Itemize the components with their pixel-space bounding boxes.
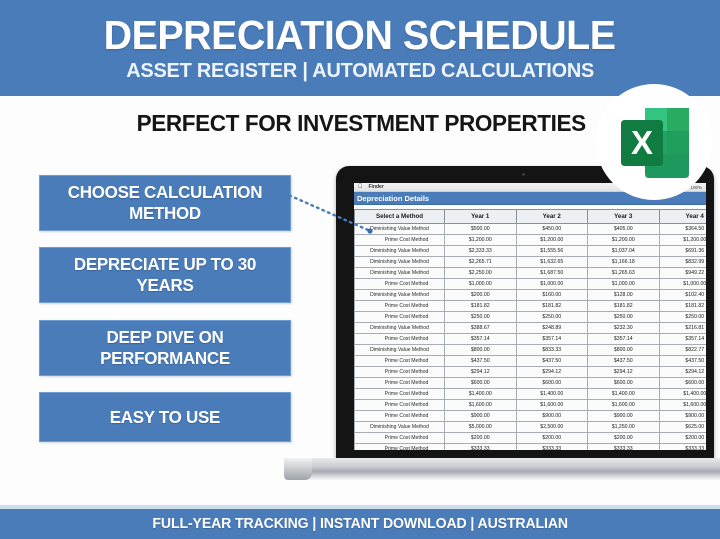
- table-body: Diminishing Value Method$500.00$450.00$4…: [355, 224, 707, 451]
- cell-method[interactable]: Diminishing Value Method: [355, 345, 445, 356]
- cell-year-3[interactable]: $1,265.63: [588, 268, 660, 279]
- cell-year-3[interactable]: $900.00: [588, 411, 660, 422]
- table-row[interactable]: Prime Cost Method$900.00$900.00$900.00$9…: [355, 411, 707, 422]
- cell-year-1[interactable]: $200.00: [445, 290, 517, 301]
- table-row[interactable]: Diminishing Value Method$2,333.33$1,555.…: [355, 246, 707, 257]
- cell-year-3[interactable]: $1,200.00: [588, 235, 660, 246]
- cell-year-3[interactable]: $357.14: [588, 334, 660, 345]
- table-row[interactable]: Diminishing Value Method$800.00$833.33$8…: [355, 345, 707, 356]
- table-column-header-1[interactable]: Year 1: [445, 210, 517, 224]
- cell-year-2[interactable]: $1,555.56: [516, 246, 588, 257]
- cell-year-4[interactable]: $216.81: [659, 323, 706, 334]
- cell-year-1[interactable]: $333.33: [445, 444, 517, 451]
- cell-year-4[interactable]: $1,200.00: [659, 235, 706, 246]
- footer-text: FULL-YEAR TRACKING | INSTANT DOWNLOAD | …: [152, 516, 568, 532]
- cell-year-2[interactable]: $1,400.00: [516, 389, 588, 400]
- cell-method[interactable]: Diminishing Value Method: [355, 290, 445, 301]
- cell-method[interactable]: Diminishing Value Method: [355, 257, 445, 268]
- cell-year-1[interactable]: $2,265.71: [445, 257, 517, 268]
- cell-method[interactable]: Prime Cost Method: [355, 367, 445, 378]
- excel-icon: X: [619, 106, 691, 180]
- table-row[interactable]: Prime Cost Method$294.12$294.12$294.12$2…: [355, 367, 707, 378]
- cell-method[interactable]: Prime Cost Method: [355, 400, 445, 411]
- cell-year-1[interactable]: $294.12: [445, 367, 517, 378]
- cell-year-3[interactable]: $181.82: [588, 301, 660, 312]
- table-column-header-3[interactable]: Year 3: [588, 210, 660, 224]
- cell-year-3[interactable]: $1,037.04: [588, 246, 660, 257]
- cell-year-4[interactable]: $625.00: [659, 422, 706, 433]
- page-title: DEPRECIATION SCHEDULE: [104, 15, 616, 56]
- laptop-screen:  Finder 100% Depreciation Details: [354, 183, 706, 450]
- cell-year-4[interactable]: $294.12: [659, 367, 706, 378]
- cell-year-2[interactable]: $2,500.00: [516, 422, 588, 433]
- cell-year-2[interactable]: $450.00: [516, 224, 588, 235]
- feature-label: CHOOSE CALCULATION METHOD: [44, 182, 287, 223]
- laptop-base: [284, 458, 720, 480]
- cell-year-3[interactable]: $250.00: [588, 312, 660, 323]
- cell-year-1[interactable]: $500.00: [445, 224, 517, 235]
- cell-year-3[interactable]: $232.30: [588, 323, 660, 334]
- cell-method[interactable]: Prime Cost Method: [355, 312, 445, 323]
- cell-year-2[interactable]: $248.89: [516, 323, 588, 334]
- cell-year-1[interactable]: $388.67: [445, 323, 517, 334]
- table-row[interactable]: Diminishing Value Method$388.67$248.89$2…: [355, 323, 707, 334]
- cell-year-1[interactable]: $437.50: [445, 356, 517, 367]
- table-row[interactable]: Diminishing Value Method$2,250.00$1,687.…: [355, 268, 707, 279]
- cell-year-4[interactable]: $250.00: [659, 312, 706, 323]
- cell-year-4[interactable]: $1,400.00: [659, 389, 706, 400]
- cell-year-2[interactable]: $1,632.65: [516, 257, 588, 268]
- table-column-header-2[interactable]: Year 2: [516, 210, 588, 224]
- table-row[interactable]: Prime Cost Method$333.33$333.33$333.33$3…: [355, 444, 707, 451]
- cell-year-4[interactable]: $900.00: [659, 411, 706, 422]
- cell-year-4[interactable]: $691.36: [659, 246, 706, 257]
- cell-year-4[interactable]: $200.00: [659, 433, 706, 444]
- cell-year-1[interactable]: $2,250.00: [445, 268, 517, 279]
- dotted-callout-line-icon: [282, 190, 378, 240]
- cell-year-3[interactable]: $333.33: [588, 444, 660, 451]
- table-row[interactable]: Prime Cost Method$437.50$437.50$437.50$4…: [355, 356, 707, 367]
- cell-year-2[interactable]: $1,687.50: [516, 268, 588, 279]
- cell-year-2[interactable]: $160.00: [516, 290, 588, 301]
- cell-year-3[interactable]: $200.00: [588, 433, 660, 444]
- cell-year-3[interactable]: $294.12: [588, 367, 660, 378]
- cell-year-3[interactable]: $1,250.00: [588, 422, 660, 433]
- headline-text: PERFECT FOR INVESTMENT PROPERTIES: [137, 110, 586, 137]
- cell-method[interactable]: Diminishing Value Method: [355, 323, 445, 334]
- cell-method[interactable]: Prime Cost Method: [355, 389, 445, 400]
- cell-method[interactable]: Prime Cost Method: [355, 301, 445, 312]
- table-header-row: Select a MethodYear 1Year 2Year 3Year 4Y…: [355, 210, 707, 224]
- cell-year-2[interactable]: $1,200.00: [516, 235, 588, 246]
- cell-year-4[interactable]: $364.50: [659, 224, 706, 235]
- cell-year-4[interactable]: $600.00: [659, 378, 706, 389]
- table-row[interactable]: Prime Cost Method$1,400.00$1,400.00$1,40…: [355, 389, 707, 400]
- cell-method[interactable]: Prime Cost Method: [355, 334, 445, 345]
- table-row[interactable]: Prime Cost Method$1,600.00$1,600.00$1,60…: [355, 400, 707, 411]
- table-row[interactable]: Prime Cost Method$181.82$181.82$181.82$1…: [355, 301, 707, 312]
- cell-year-2[interactable]: $181.82: [516, 301, 588, 312]
- feature-box-depreciate-up-to-30-years[interactable]: DEPRECIATE UP TO 30 YEARS: [39, 247, 291, 303]
- cell-year-4[interactable]: $822.77: [659, 345, 706, 356]
- cell-year-2[interactable]: $1,600.00: [516, 400, 588, 411]
- cell-year-2[interactable]: $600.00: [516, 378, 588, 389]
- cell-year-3[interactable]: $1,000.00: [588, 279, 660, 290]
- cell-year-1[interactable]: $1,600.00: [445, 400, 517, 411]
- table-column-header-4[interactable]: Year 4: [659, 210, 706, 224]
- cell-year-4[interactable]: $437.50: [659, 356, 706, 367]
- cell-year-4[interactable]: $949.22: [659, 268, 706, 279]
- depreciation-table: Select a MethodYear 1Year 2Year 3Year 4Y…: [354, 209, 706, 450]
- top-banner: DEPRECIATION SCHEDULE ASSET REGISTER | A…: [0, 0, 720, 96]
- cell-year-3[interactable]: $1,400.00: [588, 389, 660, 400]
- table-row[interactable]: Prime Cost Method$1,000.00$1,000.00$1,00…: [355, 279, 707, 290]
- cell-year-4[interactable]: $1,600.00: [659, 400, 706, 411]
- table-row[interactable]: Diminishing Value Method$200.00$160.00$1…: [355, 290, 707, 301]
- cell-year-1[interactable]: $900.00: [445, 411, 517, 422]
- cell-year-1[interactable]: $181.82: [445, 301, 517, 312]
- cell-year-4[interactable]: $181.82: [659, 301, 706, 312]
- table-row[interactable]: Prime Cost Method$357.14$357.14$357.14$3…: [355, 334, 707, 345]
- cell-year-4[interactable]: $1,000.00: [659, 279, 706, 290]
- cell-method[interactable]: Prime Cost Method: [355, 378, 445, 389]
- table-row[interactable]: Diminishing Value Method$500.00$450.00$4…: [355, 224, 707, 235]
- svg-text:X: X: [631, 124, 653, 161]
- feature-label: DEPRECIATE UP TO 30 YEARS: [44, 254, 287, 295]
- feature-box-deep-dive-on-performance[interactable]: DEEP DIVE ON PERFORMANCE: [39, 320, 291, 376]
- table-row[interactable]: Diminishing Value Method$2,265.71$1,632.…: [355, 257, 707, 268]
- cell-year-2[interactable]: $1,000.00: [516, 279, 588, 290]
- cell-year-1[interactable]: $5,000.00: [445, 422, 517, 433]
- feature-label: DEEP DIVE ON PERFORMANCE: [44, 327, 287, 368]
- cell-year-3[interactable]: $437.50: [588, 356, 660, 367]
- cell-method[interactable]: Diminishing Value Method: [355, 246, 445, 257]
- cell-year-3[interactable]: $405.00: [588, 224, 660, 235]
- cell-year-4[interactable]: $832.99: [659, 257, 706, 268]
- page-subtitle: ASSET REGISTER | AUTOMATED CALCULATIONS: [126, 61, 594, 82]
- feature-box-easy-to-use[interactable]: EASY TO USE: [39, 392, 291, 442]
- cell-year-2[interactable]: $833.33: [516, 345, 588, 356]
- laptop-mockup:  Finder 100% Depreciation Details: [336, 166, 720, 486]
- cell-year-2[interactable]: $294.12: [516, 367, 588, 378]
- cell-year-3[interactable]: $600.00: [588, 378, 660, 389]
- cell-method[interactable]: Prime Cost Method: [355, 356, 445, 367]
- cell-year-2[interactable]: $437.50: [516, 356, 588, 367]
- promo-graphic: DEPRECIATION SCHEDULE ASSET REGISTER | A…: [0, 0, 720, 539]
- cell-year-1[interactable]: $800.00: [445, 345, 517, 356]
- laptop-lid:  Finder 100% Depreciation Details: [336, 166, 714, 462]
- cell-year-3[interactable]: $800.00: [588, 345, 660, 356]
- cell-year-1[interactable]: $200.00: [445, 433, 517, 444]
- cell-year-3[interactable]: $1,600.00: [588, 400, 660, 411]
- cell-year-2[interactable]: $250.00: [516, 312, 588, 323]
- cell-method[interactable]: Diminishing Value Method: [355, 268, 445, 279]
- table-row[interactable]: Diminishing Value Method$5,000.00$2,500.…: [355, 422, 707, 433]
- cell-year-4[interactable]: $333.33: [659, 444, 706, 451]
- cell-year-4[interactable]: $357.14: [659, 334, 706, 345]
- cell-year-1[interactable]: $250.00: [445, 312, 517, 323]
- cell-method[interactable]: Prime Cost Method: [355, 444, 445, 451]
- table-row[interactable]: Prime Cost Method$1,200.00$1,200.00$1,20…: [355, 235, 707, 246]
- webcam-icon: [522, 173, 525, 176]
- cell-year-1[interactable]: $600.00: [445, 378, 517, 389]
- cell-year-1[interactable]: $2,333.33: [445, 246, 517, 257]
- depreciation-table-wrap[interactable]: Select a MethodYear 1Year 2Year 3Year 4Y…: [354, 209, 706, 450]
- table-row[interactable]: Prime Cost Method$600.00$600.00$600.00$6…: [355, 378, 707, 389]
- cell-year-2[interactable]: $200.00: [516, 433, 588, 444]
- cell-year-4[interactable]: $102.40: [659, 290, 706, 301]
- cell-year-1[interactable]: $1,200.00: [445, 235, 517, 246]
- table-row[interactable]: Prime Cost Method$250.00$250.00$250.00$2…: [355, 312, 707, 323]
- cell-method[interactable]: Prime Cost Method: [355, 433, 445, 444]
- laptop-foot: [284, 458, 312, 480]
- footer-banner: FULL-YEAR TRACKING | INSTANT DOWNLOAD | …: [0, 509, 720, 539]
- table-row[interactable]: Prime Cost Method$200.00$200.00$200.00$2…: [355, 433, 707, 444]
- cell-method[interactable]: Prime Cost Method: [355, 411, 445, 422]
- cell-year-1[interactable]: $1,000.00: [445, 279, 517, 290]
- cell-year-2[interactable]: $900.00: [516, 411, 588, 422]
- cell-year-1[interactable]: $1,400.00: [445, 389, 517, 400]
- feature-label: EASY TO USE: [104, 407, 226, 428]
- feature-box-choose-calculation-method[interactable]: CHOOSE CALCULATION METHOD: [39, 175, 291, 231]
- cell-method[interactable]: Diminishing Value Method: [355, 422, 445, 433]
- cell-year-2[interactable]: $357.14: [516, 334, 588, 345]
- cell-year-2[interactable]: $333.33: [516, 444, 588, 451]
- cell-method[interactable]: Prime Cost Method: [355, 279, 445, 290]
- cell-year-1[interactable]: $357.14: [445, 334, 517, 345]
- cell-year-3[interactable]: $1,166.18: [588, 257, 660, 268]
- cell-year-3[interactable]: $128.00: [588, 290, 660, 301]
